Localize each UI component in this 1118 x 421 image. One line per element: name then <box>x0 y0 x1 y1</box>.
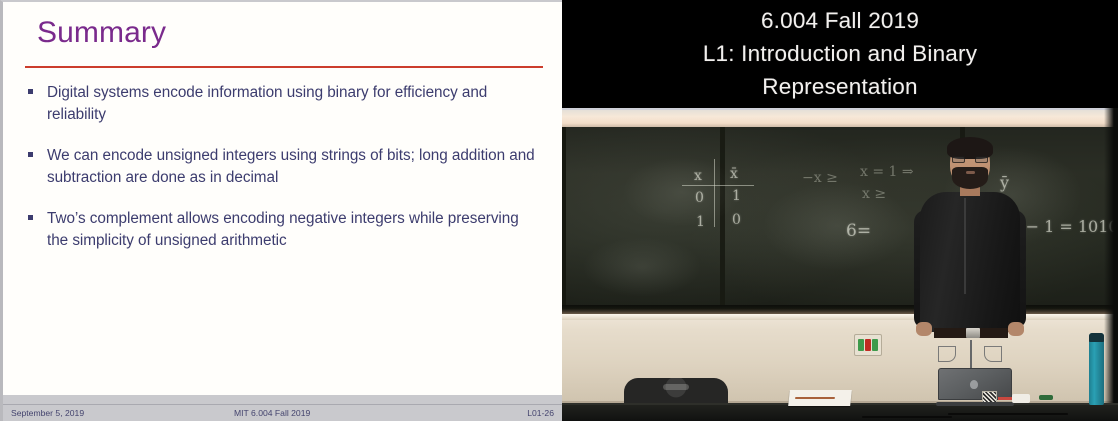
shirt-placket <box>964 198 966 294</box>
lecturer-torso <box>920 192 1020 332</box>
jeans-pocket-right <box>984 346 1002 362</box>
laptop <box>936 368 1014 406</box>
blackboard: x x̄ 0 1 1 0 −x ≥ x = 1 ⇒ x ≥ 6= ȳ 001 … <box>562 127 1118 312</box>
glasses-lens-left <box>952 156 965 163</box>
video-pane[interactable]: 6.004 Fall 2019 L1: Introduction and Bin… <box>562 0 1118 421</box>
footer-page-number: L01-26 <box>506 408 558 418</box>
cable <box>948 413 1068 415</box>
lecture-recording-view: Summary Digital systems encode informati… <box>0 0 1118 421</box>
jeans-pocket-left <box>938 346 956 362</box>
chalk-note: x <box>694 169 702 183</box>
list-item: Two’s complement allows encoding negativ… <box>25 208 541 251</box>
square-bullet-icon <box>28 89 33 94</box>
slide-footer: September 5, 2019 MIT 6.004 Fall 2019 L0… <box>3 395 562 421</box>
video-title-card: 6.004 Fall 2019 L1: Introduction and Bin… <box>562 0 1118 108</box>
switch-red-icon <box>865 339 871 351</box>
table-rule <box>714 159 715 227</box>
lecturer-mouth <box>966 171 975 174</box>
papers <box>788 390 852 406</box>
chalk-smudge <box>622 157 742 227</box>
glasses-icon <box>952 156 988 163</box>
lecturer-hand-right <box>1008 322 1024 336</box>
chalk-note: 0 <box>732 213 741 227</box>
glasses-lens-right <box>975 156 988 163</box>
upper-wall-strip <box>562 108 1118 127</box>
title-underline-rule <box>25 66 543 68</box>
table-rule <box>682 185 754 186</box>
footer-course: MIT 6.004 Fall 2019 <box>226 408 506 418</box>
lecturer-hand-left <box>916 322 932 336</box>
slide-bullet-list: Digital systems encode information using… <box>25 82 541 251</box>
title-card-line-1: 6.004 Fall 2019 <box>761 4 919 37</box>
footer-date: September 5, 2019 <box>11 408 226 418</box>
chalk-note: −x ≥ <box>802 171 838 185</box>
chalk-note: x ≥ <box>862 187 886 201</box>
lecturer <box>914 140 1026 403</box>
list-item-text: We can encode unsigned integers using st… <box>47 145 541 188</box>
chalk-note: 6= <box>846 223 871 240</box>
title-card-line-3: Representation <box>762 70 917 103</box>
list-item: We can encode unsigned integers using st… <box>25 145 541 188</box>
wall-switch-plate <box>854 334 882 356</box>
blackboard-seam <box>720 127 725 312</box>
green-connector <box>1039 395 1053 400</box>
switch-green-right-icon <box>872 339 878 351</box>
blackboard-frame-left <box>562 127 566 312</box>
list-item-text: Digital systems encode information using… <box>47 82 541 125</box>
pen <box>795 397 835 399</box>
switch-green-left-icon <box>858 339 864 351</box>
chalk-note: 1 <box>696 215 705 229</box>
laptop-base <box>936 402 1014 406</box>
slide-content: Summary Digital systems encode informati… <box>3 2 562 421</box>
cable <box>862 416 952 418</box>
title-card-line-2: L1: Introduction and Binary <box>703 37 977 70</box>
chalk-note: 0 <box>695 191 704 205</box>
room-right-shadow <box>1104 108 1118 404</box>
square-bullet-icon <box>28 152 33 157</box>
chalk-note: x = 1 ⇒ <box>860 165 914 179</box>
wall-rail <box>562 314 1118 320</box>
water-bottle <box>1089 333 1104 405</box>
list-item-text: Two’s complement allows encoding negativ… <box>47 208 541 251</box>
list-item: Digital systems encode information using… <box>25 82 541 125</box>
chalk-note: x̄ <box>730 167 738 181</box>
apple-logo-icon <box>970 380 978 389</box>
square-bullet-icon <box>28 215 33 220</box>
chalk-smudge <box>762 181 912 271</box>
chalk-smudge <box>582 237 702 297</box>
bottle-cap <box>1089 333 1104 342</box>
usb-dongle <box>1012 394 1030 403</box>
slide-pane: Summary Digital systems encode informati… <box>0 0 562 421</box>
chalk-note: 1 <box>732 189 741 203</box>
slide-title: Summary <box>37 16 166 50</box>
chalk-tray <box>562 305 1118 314</box>
